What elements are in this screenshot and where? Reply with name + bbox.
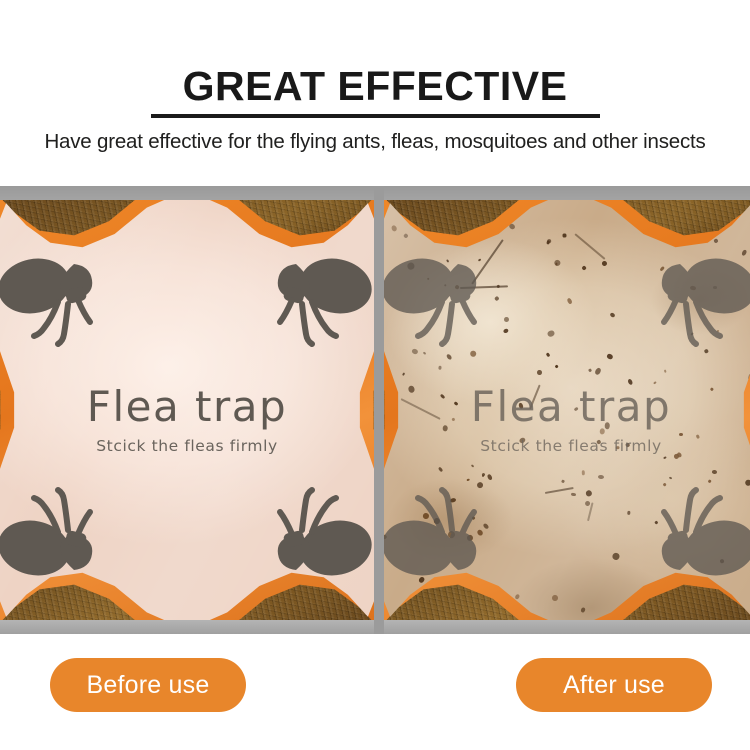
panel-divider (374, 186, 384, 634)
header: GREAT EFFECTIVE Have great effective for… (0, 0, 750, 186)
flea-icon (256, 486, 374, 590)
flea-icon (640, 244, 750, 348)
flea-icon (0, 486, 114, 590)
title-underline (151, 114, 600, 118)
flea-icon (384, 244, 498, 348)
product-comparison-page: GREAT EFFECTIVE Have great effective for… (0, 0, 750, 750)
page-subtitle: Have great effective for the flying ants… (0, 130, 750, 155)
flea-icon (0, 244, 114, 348)
comparison-photo-strip: Flea trap Stcick the fleas firmly (0, 186, 750, 634)
after-photo-panel: Flea trap Stcick the fleas firmly (384, 200, 750, 620)
before-photo-panel: Flea trap Stcick the fleas firmly (0, 200, 374, 620)
after-use-label: After use (516, 658, 712, 712)
flea-icon (256, 244, 374, 348)
caption-row: Before use After use (0, 634, 750, 750)
flea-icon (384, 486, 498, 590)
before-use-label: Before use (50, 658, 246, 712)
page-title: GREAT EFFECTIVE (0, 66, 750, 107)
flea-icon (640, 486, 750, 590)
